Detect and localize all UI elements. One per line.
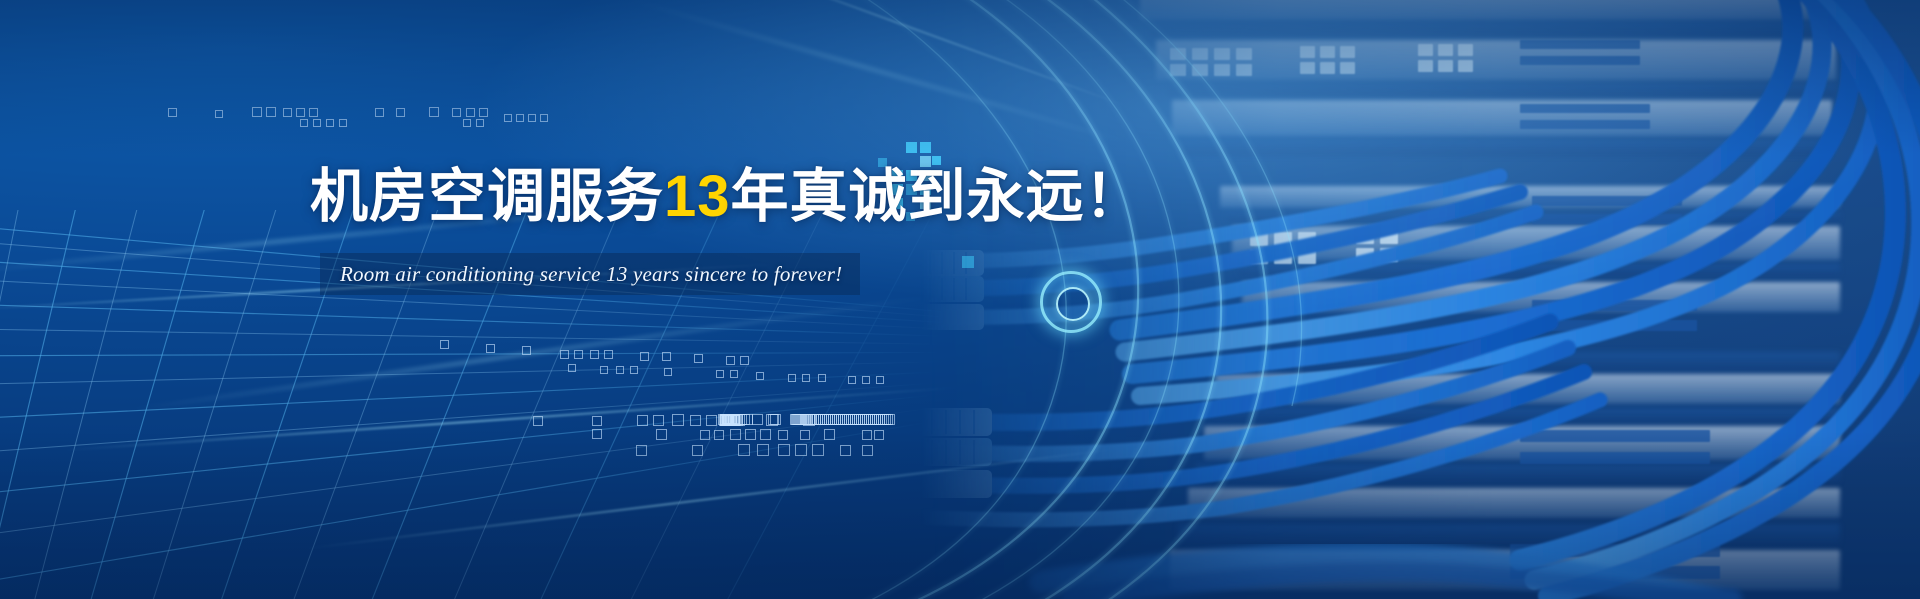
glow-ring xyxy=(1040,271,1102,333)
headline-part-2: 年真诚到永远！ xyxy=(731,164,1144,229)
subtitle-text: Room air conditioning service 13 years s… xyxy=(340,253,846,295)
page-title: 机房空调服务13年真诚到永远！ xyxy=(310,168,1144,226)
hero-banner: 机房空调服务13年真诚到永远！ Room air conditioning se… xyxy=(0,0,1920,599)
headline-highlight-years: 13 xyxy=(664,164,731,229)
headline-part-1: 机房空调服务 xyxy=(310,164,664,229)
